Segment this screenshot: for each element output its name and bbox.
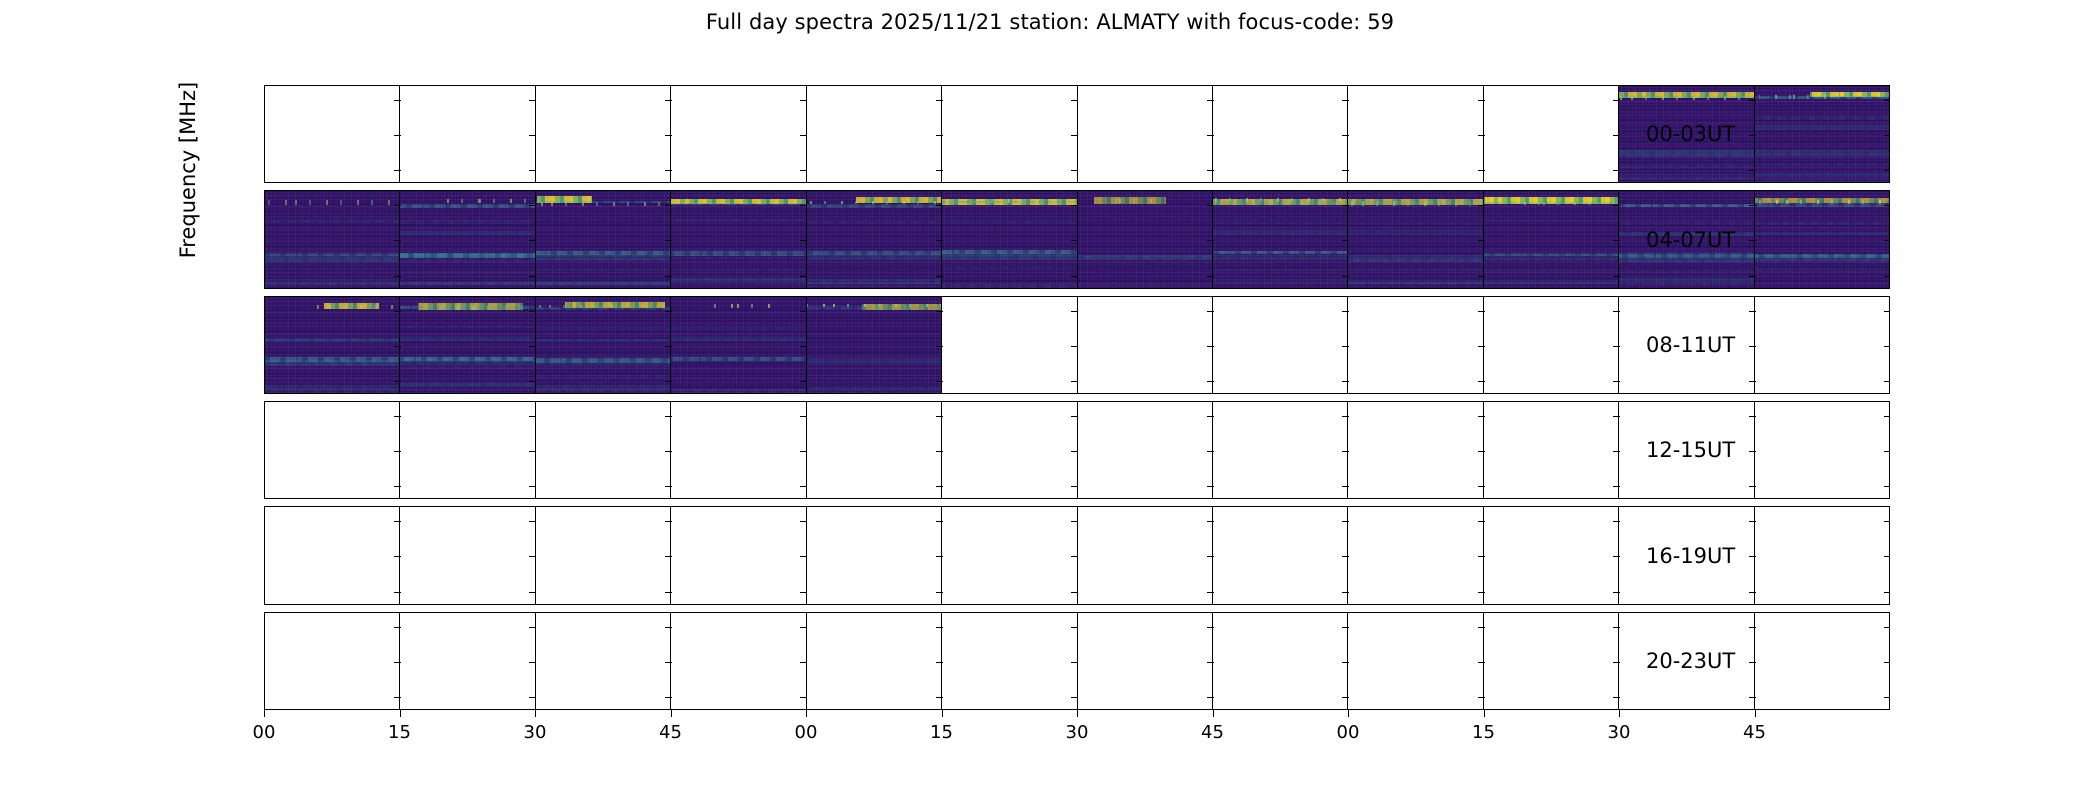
y-tick-inner — [394, 381, 401, 382]
spectrogram-cell — [671, 191, 806, 287]
emission-band — [671, 278, 805, 282]
y-tick-inner — [1478, 100, 1485, 101]
emission-band — [536, 259, 670, 261]
y-tick-inner — [1207, 521, 1214, 522]
y-tick-inner — [394, 697, 401, 698]
y-tick-inner — [1207, 556, 1214, 557]
spectrogram-cell-empty — [942, 613, 1077, 709]
y-tick-inner — [1207, 416, 1214, 417]
y-tick-inner — [1749, 556, 1756, 557]
spectrogram-cell-empty — [1348, 402, 1483, 498]
y-tick-inner — [1342, 311, 1349, 312]
x-tick-label: 00 — [795, 722, 818, 743]
emission-band — [400, 337, 534, 342]
y-tick-inner — [1071, 276, 1078, 277]
y-tick-inner — [936, 170, 943, 171]
y-tick-inner — [1342, 486, 1349, 487]
spectrogram-cell — [942, 191, 1077, 287]
spectrogram-cell-empty — [942, 507, 1077, 603]
y-tick-inner — [1207, 662, 1214, 663]
y-tick-inner — [800, 240, 807, 241]
y-tick-inner — [665, 627, 672, 628]
spectrogram-cell-empty — [1755, 507, 1889, 603]
y-tick — [264, 276, 265, 277]
y-tick-inner — [1749, 346, 1756, 347]
y-tick-inner — [1207, 346, 1214, 347]
spectrogram-cell — [1484, 191, 1619, 287]
spectrogram-cell — [1755, 86, 1889, 182]
y-tick — [264, 135, 265, 136]
emission-band — [671, 327, 805, 331]
emission-band — [1213, 230, 1347, 234]
y-tick-inner — [1613, 276, 1620, 277]
y-tick-inner — [1207, 592, 1214, 593]
emission-band — [1213, 269, 1347, 271]
y-tick-inner — [529, 592, 536, 593]
spectrogram-cell-empty — [671, 507, 806, 603]
y-tick-inner — [1884, 592, 1890, 593]
emission-band — [712, 304, 781, 309]
x-tick-label: 45 — [659, 722, 682, 743]
y-tick-inner — [1613, 662, 1620, 663]
y-tick-inner — [936, 592, 943, 593]
x-tick-label: 00 — [253, 722, 276, 743]
emission-band — [265, 362, 399, 366]
y-tick-inner — [665, 381, 672, 382]
y-tick-inner — [1478, 346, 1485, 347]
y-tick-inner — [1207, 311, 1214, 312]
emission-band — [400, 326, 534, 328]
y-tick-inner — [800, 100, 807, 101]
y-tick-inner — [1342, 170, 1349, 171]
y-tick-inner — [1749, 170, 1756, 171]
y-tick-inner — [665, 240, 672, 241]
emission-band — [1619, 270, 1753, 273]
y-tick-inner — [665, 662, 672, 663]
noise-layer — [400, 297, 534, 393]
emission-band — [671, 251, 805, 255]
emission-band — [316, 305, 400, 310]
y-tick-inner — [665, 556, 672, 557]
y-tick-inner — [665, 697, 672, 698]
spectrogram-cell-empty — [1755, 402, 1889, 498]
y-tick-inner — [1342, 592, 1349, 593]
page-title: Full day spectra 2025/11/21 station: ALM… — [0, 10, 2100, 34]
x-tick — [1213, 710, 1214, 717]
emission-band — [1348, 201, 1482, 205]
spectrogram-cell-empty — [400, 402, 535, 498]
y-tick-inner — [1478, 240, 1485, 241]
y-tick-inner — [1884, 662, 1890, 663]
y-tick-inner — [1342, 697, 1349, 698]
noise-layer — [807, 297, 941, 393]
y-tick-inner — [529, 556, 536, 557]
y-tick-inner — [1478, 521, 1485, 522]
y-tick-inner — [800, 662, 807, 663]
y-tick-inner — [394, 205, 401, 206]
spectrogram-cell-empty — [400, 613, 535, 709]
spectrogram-cell-empty — [1213, 297, 1348, 393]
emission-band — [400, 220, 534, 224]
y-tick-inner — [394, 276, 401, 277]
x-tick — [806, 710, 807, 717]
y-tick-inner — [1478, 556, 1485, 557]
spectrogram-cell-empty — [1484, 507, 1619, 603]
emission-band — [671, 257, 805, 259]
emission-band — [1484, 269, 1618, 273]
emission-band — [1755, 180, 1889, 183]
y-tick-inner — [529, 416, 536, 417]
y-tick-inner — [1207, 627, 1214, 628]
y-tick-inner — [1749, 416, 1756, 417]
x-tick-label: 30 — [524, 722, 547, 743]
emission-band — [265, 283, 399, 287]
y-tick-inner — [394, 451, 401, 452]
emission-band — [1213, 251, 1347, 254]
emission-band — [1755, 153, 1889, 157]
y-tick-inner — [1342, 100, 1349, 101]
emission-band — [1213, 222, 1347, 225]
y-tick-inner — [394, 662, 401, 663]
y-tick-inner — [1749, 205, 1756, 206]
y-tick-inner — [1749, 381, 1756, 382]
emission-band — [1078, 256, 1212, 258]
spectrogram-cell-empty — [1484, 86, 1619, 182]
spectrogram-cell-empty — [1213, 507, 1348, 603]
y-tick-inner — [529, 205, 536, 206]
y-tick-inner — [1071, 662, 1078, 663]
y-tick-inner — [1207, 276, 1214, 277]
y-tick — [264, 697, 265, 698]
spectrogram-cell — [807, 191, 942, 287]
y-tick-inner — [529, 381, 536, 382]
y-tick-inner — [800, 521, 807, 522]
spectrogram-cell — [671, 297, 806, 393]
y-tick-inner — [529, 346, 536, 347]
emission-band — [942, 284, 1076, 287]
emission-band — [1755, 259, 1889, 262]
emission-band — [671, 337, 805, 341]
y-tick-inner — [1071, 521, 1078, 522]
emission-band — [1484, 280, 1618, 283]
spectrogram-cell-empty — [265, 86, 400, 182]
y-tick-inner — [1478, 135, 1485, 136]
noise-layer — [671, 191, 805, 287]
emission-band — [1213, 201, 1347, 205]
y-tick-inner — [1071, 205, 1078, 206]
emission-band — [671, 389, 805, 393]
noise-layer — [1078, 191, 1212, 287]
y-tick-inner — [1342, 521, 1349, 522]
y-tick-inner — [1884, 205, 1890, 206]
y-tick-inner — [936, 276, 943, 277]
spectrogram-cell-empty — [400, 507, 535, 603]
y-tick-inner — [1071, 240, 1078, 241]
y-tick-inner — [1342, 205, 1349, 206]
y-tick-inner — [1884, 346, 1890, 347]
spectrogram-cell-empty — [942, 402, 1077, 498]
y-tick-inner — [1884, 381, 1890, 382]
y-tick-inner — [665, 486, 672, 487]
spectrogram-cell-empty — [1348, 297, 1483, 393]
noise-layer — [1755, 86, 1889, 182]
x-tick-label: 15 — [1472, 722, 1495, 743]
y-tick-inner — [529, 170, 536, 171]
emission-band — [400, 306, 534, 309]
emission-band — [942, 267, 1076, 269]
x-tick-label: 30 — [1066, 722, 1089, 743]
emission-band — [400, 204, 534, 208]
emission-band — [400, 282, 534, 286]
y-tick-inner — [1342, 556, 1349, 557]
x-tick — [264, 710, 265, 717]
y-tick-inner — [1884, 556, 1890, 557]
y-tick-inner — [1478, 592, 1485, 593]
y-tick-inner — [1207, 697, 1214, 698]
y-tick-inner — [1749, 311, 1756, 312]
y-tick — [264, 100, 265, 101]
y-tick-inner — [1749, 240, 1756, 241]
y-tick-inner — [1613, 311, 1620, 312]
emission-band — [671, 203, 805, 205]
y-tick-inner — [936, 451, 943, 452]
emission-band — [265, 258, 399, 261]
y-tick-inner — [1613, 381, 1620, 382]
x-tick-label: 00 — [1337, 722, 1360, 743]
y-tick-inner — [1071, 381, 1078, 382]
row-label: 12-15UT — [1646, 438, 1735, 462]
y-tick-inner — [1342, 240, 1349, 241]
y-tick-inner — [394, 521, 401, 522]
y-tick-inner — [529, 311, 536, 312]
y-tick-inner — [1071, 451, 1078, 452]
emission-band — [1619, 282, 1753, 286]
spectrogram-cell — [400, 191, 535, 287]
y-tick-inner — [1478, 451, 1485, 452]
y-tick-inner — [1478, 697, 1485, 698]
y-tick-inner — [1613, 416, 1620, 417]
y-tick-inner — [394, 346, 401, 347]
spectrogram-figure: Full day spectra 2025/11/21 station: ALM… — [0, 0, 2100, 800]
y-tick-inner — [800, 592, 807, 593]
y-tick-inner — [1478, 662, 1485, 663]
y-tick-inner — [1884, 416, 1890, 417]
emission-band — [265, 220, 399, 223]
emission-band — [807, 391, 941, 393]
y-tick-inner — [1207, 135, 1214, 136]
panel-stack: 7505002507505002507505002507505002507505… — [264, 85, 1890, 710]
y-tick-inner — [1071, 697, 1078, 698]
x-tick — [942, 710, 943, 717]
spectrogram-cell-empty — [536, 613, 671, 709]
y-tick-inner — [1207, 205, 1214, 206]
y-tick-inner — [394, 135, 401, 136]
y-tick-inner — [936, 100, 943, 101]
y-tick-inner — [1749, 486, 1756, 487]
y-tick-inner — [665, 451, 672, 452]
y-tick-inner — [1884, 276, 1890, 277]
y-tick-inner — [1478, 627, 1485, 628]
y-tick-inner — [936, 381, 943, 382]
y-tick-inner — [1207, 486, 1214, 487]
emission-band — [1078, 284, 1212, 287]
emission-band — [1619, 221, 1753, 225]
y-tick-inner — [1071, 346, 1078, 347]
emission-band — [536, 307, 670, 310]
emission-band — [1348, 268, 1482, 272]
x-tick — [1077, 710, 1078, 717]
y-tick-inner — [665, 100, 672, 101]
spectrogram-cell — [536, 297, 671, 393]
y-tick-inner — [394, 416, 401, 417]
emission-band — [807, 306, 941, 310]
y-tick-inner — [1884, 697, 1890, 698]
emission-band — [807, 221, 941, 223]
spectrogram-cell — [265, 191, 400, 287]
y-tick-inner — [1342, 416, 1349, 417]
y-tick-inner — [936, 521, 943, 522]
emission-band — [400, 253, 534, 258]
emission-band — [1484, 220, 1618, 222]
y-tick-inner — [800, 556, 807, 557]
emission-band — [1755, 173, 1889, 177]
emission-band — [1619, 154, 1753, 158]
spectrogram-cell-empty — [1755, 613, 1889, 709]
x-axis: 001530450015304500153045 — [264, 710, 1890, 750]
row-label: 20-23UT — [1646, 649, 1735, 673]
y-tick-inner — [800, 346, 807, 347]
spectrogram-cell — [265, 297, 400, 393]
spectrogram-cell-empty — [1348, 86, 1483, 182]
y-tick-inner — [800, 451, 807, 452]
spectrogram-cell — [536, 191, 671, 287]
y-tick — [264, 311, 265, 312]
y-tick-inner — [1884, 486, 1890, 487]
y-tick-inner — [665, 521, 672, 522]
emission-band — [536, 283, 670, 286]
noise-layer — [536, 297, 670, 393]
y-tick-inner — [1071, 556, 1078, 557]
x-tick-label: 45 — [1743, 722, 1766, 743]
y-tick-inner — [529, 451, 536, 452]
emission-band — [1755, 125, 1889, 130]
y-tick-inner — [1478, 276, 1485, 277]
spectrogram-cell-empty — [942, 297, 1077, 393]
spectrogram-cell-empty — [671, 613, 806, 709]
emission-band — [265, 338, 399, 342]
y-tick-inner — [1613, 627, 1620, 628]
spectrogram-cell-empty — [807, 402, 942, 498]
y-tick-inner — [1342, 662, 1349, 663]
row-label: 00-03UT — [1646, 122, 1735, 146]
noise-layer — [1484, 191, 1618, 287]
y-tick — [264, 381, 265, 382]
emission-band — [400, 231, 534, 235]
y-axis-label: Frequency [MHz] — [176, 40, 200, 300]
noise-layer — [265, 191, 399, 287]
y-tick — [264, 416, 265, 417]
spectrogram-cell-empty — [265, 402, 400, 498]
y-tick-inner — [1884, 521, 1890, 522]
y-tick-inner — [1884, 627, 1890, 628]
y-tick-inner — [1478, 486, 1485, 487]
y-tick-inner — [529, 627, 536, 628]
y-tick-inner — [394, 556, 401, 557]
spectrogram-cell-empty — [536, 507, 671, 603]
emission-band — [1619, 204, 1753, 207]
y-tick — [264, 451, 265, 452]
y-tick-inner — [1207, 240, 1214, 241]
emission-band — [1755, 232, 1889, 235]
emission-band — [807, 374, 941, 376]
emission-band — [1619, 96, 1753, 99]
emission-band — [400, 383, 534, 387]
y-tick-inner — [800, 416, 807, 417]
y-tick-inner — [1207, 100, 1214, 101]
spectrogram-cell-empty — [1078, 402, 1213, 498]
y-tick — [264, 170, 265, 171]
y-tick-inner — [529, 697, 536, 698]
emission-band — [1104, 199, 1152, 203]
noise-layer — [671, 297, 805, 393]
emission-band — [1755, 96, 1889, 100]
x-tick-label: 30 — [1608, 722, 1631, 743]
emission-band — [536, 268, 670, 271]
y-tick-inner — [529, 135, 536, 136]
emission-band — [1484, 202, 1618, 204]
spectrogram-cell-empty — [671, 402, 806, 498]
spectrogram-cell — [1078, 191, 1213, 287]
y-tick-inner — [1884, 451, 1890, 452]
y-tick-inner — [394, 170, 401, 171]
y-tick-inner — [1613, 240, 1620, 241]
y-tick-inner — [665, 170, 672, 171]
y-tick — [264, 627, 265, 628]
y-tick-inner — [800, 170, 807, 171]
x-tick — [1755, 710, 1756, 717]
y-tick-inner — [1884, 100, 1890, 101]
spectrogram-cell-empty — [807, 613, 942, 709]
y-tick-inner — [1749, 451, 1756, 452]
y-tick-inner — [529, 486, 536, 487]
emission-band — [536, 327, 670, 331]
y-tick-inner — [1749, 521, 1756, 522]
x-tick — [671, 710, 672, 717]
y-tick-inner — [1613, 592, 1620, 593]
y-tick-inner — [1342, 381, 1349, 382]
y-tick-inner — [529, 100, 536, 101]
emission-band — [536, 201, 670, 204]
x-tick-label: 15 — [388, 722, 411, 743]
spectrogram-cell-empty — [942, 86, 1077, 182]
emission-band — [671, 219, 805, 222]
y-tick-inner — [1342, 451, 1349, 452]
y-tick-inner — [936, 346, 943, 347]
y-tick-inner — [665, 276, 672, 277]
emission-band — [400, 259, 534, 262]
y-tick-inner — [936, 556, 943, 557]
y-tick-inner — [800, 135, 807, 136]
y-tick — [264, 662, 265, 663]
y-tick-inner — [1749, 662, 1756, 663]
y-tick — [264, 205, 265, 206]
spectrogram-cell-empty — [1213, 613, 1348, 709]
y-tick-inner — [936, 416, 943, 417]
spectrogram-cell-empty — [265, 507, 400, 603]
y-tick-inner — [1071, 311, 1078, 312]
emission-band — [536, 389, 670, 392]
emission-band — [671, 357, 805, 360]
